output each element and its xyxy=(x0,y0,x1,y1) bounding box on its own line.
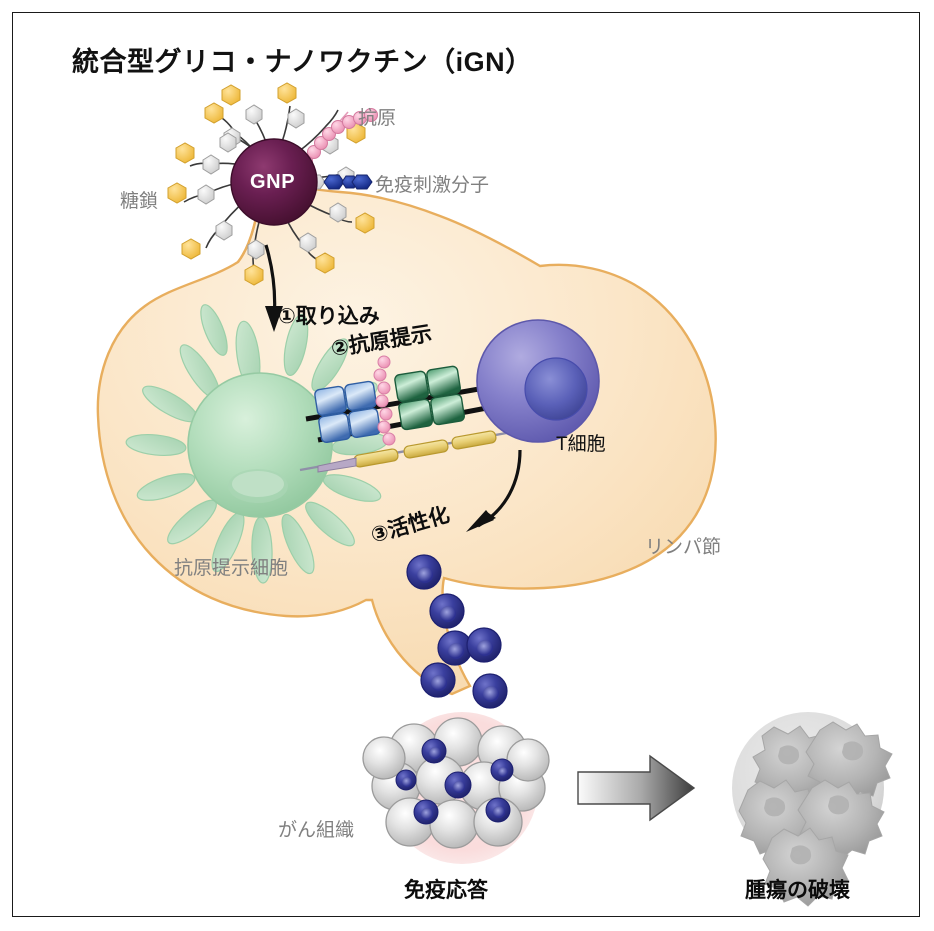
cancer-tissue-label: がん組織 xyxy=(278,815,354,842)
apc-label: 抗原提示細胞 xyxy=(174,553,288,580)
lymph-node-label: リンパ節 xyxy=(645,532,721,559)
transition-arrow xyxy=(578,756,694,820)
tumor-destruction-label: 腫瘍の破壊 xyxy=(745,874,850,904)
step-1-label: ①取り込み xyxy=(278,300,380,330)
immune-response-label: 免疫応答 xyxy=(404,874,488,904)
gnp-core-label: GNP xyxy=(250,171,295,194)
t-cell-label: T細胞 xyxy=(556,429,606,456)
t-cell xyxy=(477,320,599,442)
glycan-label: 糖鎖 xyxy=(120,186,158,213)
figure-canvas: 統合型グリコ・ナノワクチン（iGN） GNP 抗原 免疫刺激分子 糖鎖 ①取り込… xyxy=(0,0,934,931)
page-title: 統合型グリコ・ナノワクチン（iGN） xyxy=(72,40,533,79)
tumor-tissue-immune-response xyxy=(363,712,549,864)
tumor-cell xyxy=(507,739,549,781)
immunostimulant-label: 免疫刺激分子 xyxy=(375,170,489,197)
antigen-label: 抗原 xyxy=(358,103,396,130)
diagram-svg xyxy=(0,0,934,931)
